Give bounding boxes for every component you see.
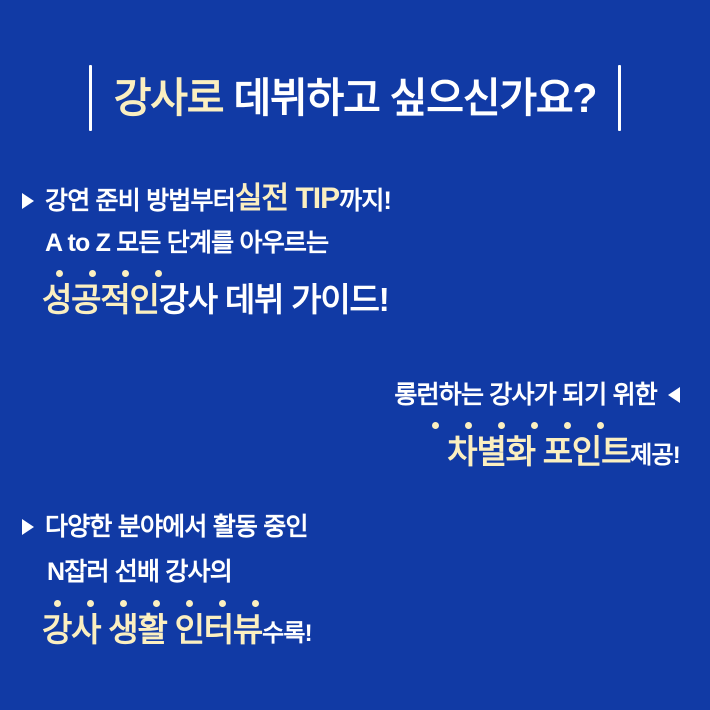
interview-line-3-rest: 수록!: [262, 622, 312, 646]
title-rest: 데뷔하고 싶으신가요?: [223, 75, 596, 121]
emphasis-dot: [87, 600, 94, 607]
emphasis-dots-differentiation: [394, 421, 604, 429]
emphasis-dot: [531, 422, 538, 429]
debut-guide-line-3-rest: 강사 데뷔 가이드!: [159, 283, 389, 316]
emphasis-dot: [564, 422, 571, 429]
debut-guide-line-1-suffix: 까지!: [339, 189, 391, 214]
emphasis-dot: [597, 422, 604, 429]
emphasis-dot: [56, 270, 63, 277]
page-title: 강사로 데뷔하고 싶으신가요?: [0, 57, 710, 139]
emphasis-dot: [186, 600, 193, 607]
debut-guide-line-1-prefix: 강연 준비 방법부터: [45, 189, 235, 214]
emphasis-dot: [120, 600, 127, 607]
emphasis-dot: [498, 422, 505, 429]
debut-guide-line-3: 성공적인 강사 데뷔 가이드!: [42, 283, 391, 316]
triangle-left-icon: [668, 387, 680, 403]
interview-line-2: N잡러 선배 강사의: [47, 560, 312, 585]
emphasis-dot: [252, 600, 259, 607]
emphasis-dots-interview: [54, 599, 312, 607]
emphasis-dot: [432, 422, 439, 429]
emphasis-dot: [54, 600, 61, 607]
interview-line-1: 다양한 분야에서 활동 중인: [22, 515, 312, 540]
title-highlight: 강사로: [114, 75, 224, 121]
feature-block-debut-guide: 강연 준비 방법부터 실전 TIP까지! A to Z 모든 단계를 아우르는 …: [22, 184, 391, 316]
feature-block-differentiation: 롱런하는 강사가 되기 위한 차별화 포인트 제공!: [394, 383, 680, 468]
differentiation-line-2-emphasis: 차별화 포인트: [447, 435, 630, 468]
debut-guide-line-2-text: A to Z 모든 단계를 아우르는: [45, 231, 328, 256]
debut-guide-line-3-emphasis: 성공적인: [42, 283, 159, 316]
feature-block-interview: 다양한 분야에서 활동 중인 N잡러 선배 강사의 강사 생활 인터뷰 수록!: [22, 515, 312, 646]
triangle-right-icon: [22, 519, 34, 535]
debut-guide-line-1: 강연 준비 방법부터 실전 TIP까지!: [22, 184, 391, 214]
differentiation-line-2: 차별화 포인트 제공!: [394, 435, 680, 468]
differentiation-line-2-rest: 제공!: [630, 444, 680, 468]
promo-poster: 강사로 데뷔하고 싶으신가요? 강연 준비 방법부터 실전 TIP까지! A t…: [0, 0, 710, 710]
emphasis-dot: [155, 270, 162, 277]
debut-guide-line-2: A to Z 모든 단계를 아우르는: [45, 231, 391, 256]
differentiation-line-1: 롱런하는 강사가 되기 위한: [394, 383, 680, 408]
title-right-rule: [618, 65, 621, 131]
emphasis-dot: [89, 270, 96, 277]
triangle-right-icon: [22, 193, 34, 209]
interview-line-3-emphasis: 강사 생활 인터뷰: [42, 613, 262, 646]
interview-line-3: 강사 생활 인터뷰 수록!: [42, 613, 312, 646]
debut-guide-line-1-emphasis: 실전 TIP: [235, 184, 339, 214]
emphasis-dots-debut-guide: [56, 269, 391, 277]
emphasis-dot: [153, 600, 160, 607]
emphasis-dot: [219, 600, 226, 607]
title-left-rule: [89, 65, 92, 131]
differentiation-line-1-text: 롱런하는 강사가 되기 위한: [394, 383, 657, 408]
interview-line-2-text: N잡러 선배 강사의: [47, 560, 232, 585]
emphasis-dot: [465, 422, 472, 429]
emphasis-dot: [122, 270, 129, 277]
interview-line-1-text: 다양한 분야에서 활동 중인: [45, 515, 308, 540]
title-text: 강사로 데뷔하고 싶으신가요?: [114, 78, 596, 119]
